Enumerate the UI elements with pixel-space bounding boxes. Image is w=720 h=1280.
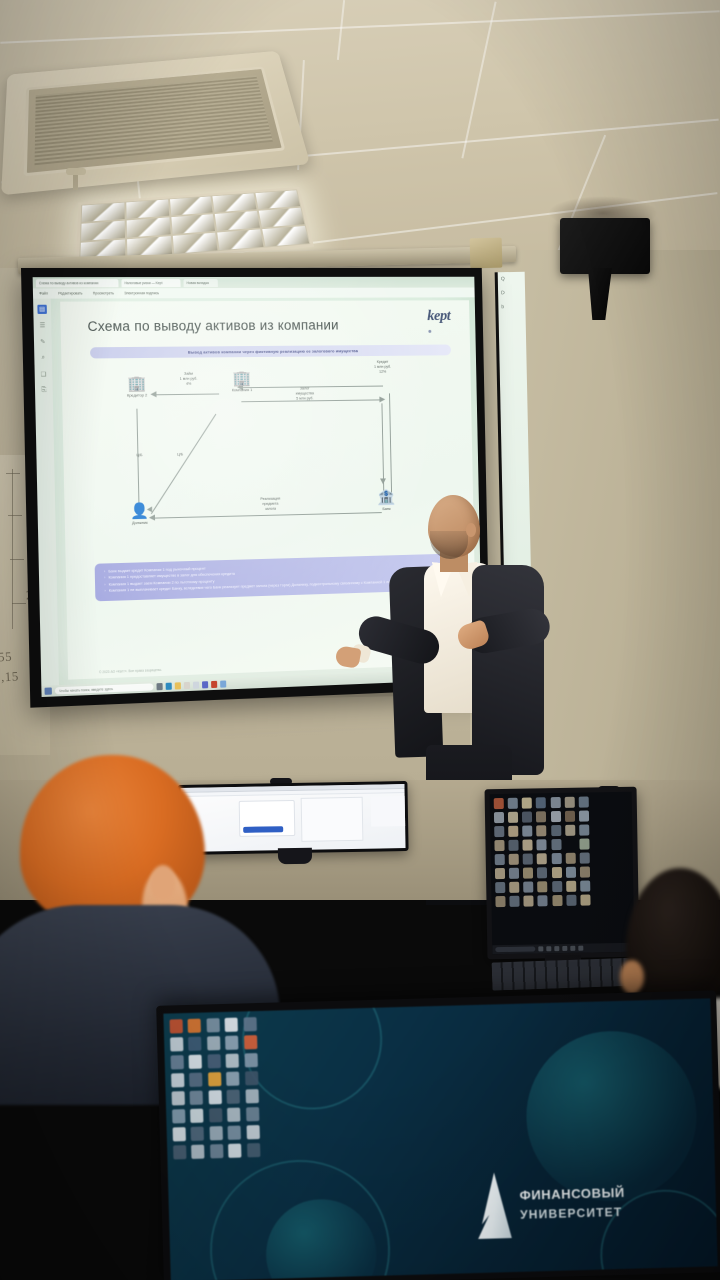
- desktop-icon[interactable]: [244, 1053, 257, 1067]
- desktop-icon[interactable]: [494, 798, 504, 809]
- slide-banner: Вывод активов компании через фиктивную р…: [90, 345, 451, 359]
- desktop-icon[interactable]: [510, 896, 520, 907]
- desktop-icon[interactable]: [228, 1126, 241, 1140]
- comment-icon[interactable]: ❑: [39, 370, 49, 379]
- edge-label-securities-1: Ц/Б: [127, 453, 152, 458]
- ceiling-ac-cassette: [1, 51, 310, 195]
- desktop-icon[interactable]: [566, 895, 576, 906]
- explorer-icon[interactable]: [175, 682, 181, 689]
- taskbar-icon[interactable]: [546, 946, 551, 951]
- desktop-icon[interactable]: [523, 840, 533, 851]
- node-label-debtor: Должник: [116, 520, 163, 525]
- bookmarks-icon[interactable]: ☰: [38, 321, 48, 330]
- presenter-jacket-right: [472, 565, 544, 775]
- start-icon[interactable]: [44, 687, 51, 694]
- desktop-icon[interactable]: [524, 895, 534, 906]
- desktop-icon[interactable]: [509, 882, 519, 893]
- edge-company1-creditor2: [156, 393, 219, 395]
- desktop-icon[interactable]: [509, 840, 519, 851]
- desktop-icon[interactable]: [580, 895, 590, 906]
- edge-bank-vertical-2: [389, 393, 392, 504]
- edge-company1-debtor: [151, 414, 216, 514]
- desktop-icon[interactable]: [522, 798, 532, 809]
- edge-icon[interactable]: [166, 683, 172, 690]
- content-panel: [301, 797, 364, 842]
- desktop-icon[interactable]: [494, 840, 504, 851]
- desktop-icon[interactable]: [536, 811, 546, 822]
- desktop-icon[interactable]: [509, 854, 519, 865]
- desktop-icon[interactable]: [208, 1072, 221, 1086]
- desktop-icon[interactable]: [226, 1054, 239, 1068]
- desktop-icon[interactable]: [566, 881, 576, 892]
- desktop-icon[interactable]: [207, 1054, 220, 1068]
- desktop-icon[interactable]: [191, 1145, 204, 1159]
- desktop-icon[interactable]: [188, 1037, 201, 1051]
- slide-footer: © 2023 АО «Кепт». Все права защищены.: [99, 668, 162, 674]
- edge-creditor2-debtor: [136, 409, 139, 510]
- desktop-icon[interactable]: [551, 867, 561, 878]
- desktop-icon[interactable]: [225, 1036, 238, 1050]
- slide-title: Схема по выводу активов из компании: [87, 317, 456, 334]
- desktop-icon[interactable]: [494, 812, 504, 823]
- desktop-icon[interactable]: [508, 798, 518, 809]
- desktop-icon[interactable]: [189, 1073, 202, 1087]
- desktop-icon[interactable]: [564, 797, 574, 808]
- edge-label-loan: Займ 1 млн руб. 4%: [162, 371, 215, 386]
- edge-label-sale: Реализация предмета залога: [239, 496, 301, 512]
- desktop-icon[interactable]: [189, 1055, 202, 1069]
- side-panel: [371, 796, 406, 827]
- desktop-icon[interactable]: [227, 1090, 240, 1104]
- company-icon: 🏢: [113, 376, 160, 393]
- desktop-icon[interactable]: [566, 867, 576, 878]
- desktop-icon[interactable]: [565, 853, 575, 864]
- desktop-icon[interactable]: [190, 1091, 203, 1105]
- desktop-icon[interactable]: [551, 853, 561, 864]
- desktop-icon[interactable]: [208, 1090, 221, 1104]
- sail-icon: [468, 1172, 512, 1239]
- desktop-icon[interactable]: [495, 854, 505, 865]
- kept-logo-dot: [428, 330, 431, 333]
- desktop-icon[interactable]: [523, 868, 533, 879]
- mail-icon[interactable]: [184, 682, 190, 689]
- desktop-icon[interactable]: [225, 1018, 238, 1032]
- desktop-icon[interactable]: [209, 1108, 222, 1122]
- note-015: 0,15: [0, 668, 19, 685]
- desktop-icon[interactable]: [536, 797, 546, 808]
- desktop-icon[interactable]: [565, 839, 575, 850]
- desktop-icon[interactable]: [495, 882, 505, 893]
- desktop-icon[interactable]: [173, 1127, 186, 1141]
- desktop-icon[interactable]: [243, 1017, 256, 1031]
- desktop-icon[interactable]: [207, 1036, 220, 1050]
- taskbar-search-input[interactable]: [495, 946, 535, 952]
- desktop-icon[interactable]: [538, 895, 548, 906]
- desktop-icon[interactable]: [245, 1071, 258, 1085]
- taskbar-icon[interactable]: [554, 946, 559, 951]
- menu-file[interactable]: Файл: [39, 291, 48, 295]
- diagram-node-creditor2: 🏢 Кредитор 2: [113, 376, 160, 398]
- desktop-icon[interactable]: [188, 1019, 201, 1033]
- search-icon[interactable]: ⌕: [38, 354, 48, 363]
- desktop-icon[interactable]: [509, 868, 519, 879]
- desktop-icon[interactable]: [191, 1127, 204, 1141]
- taskbar-icon[interactable]: [562, 946, 567, 951]
- taskbar-icon[interactable]: [570, 946, 575, 951]
- chrome-icon[interactable]: [220, 680, 226, 687]
- secondary-char-d: D: [498, 286, 525, 301]
- desktop-icon[interactable]: [171, 1055, 184, 1069]
- kept-logo: kept: [427, 308, 450, 325]
- university-name-line1: ФИНАНСОВЫЙ: [519, 1185, 625, 1203]
- arrow-pledge-to-bank: [379, 396, 385, 402]
- person-icon: 👤: [116, 503, 163, 520]
- desktop-icon[interactable]: [523, 854, 533, 865]
- university-name-line2: УНИВЕРСИТЕТ: [520, 1205, 626, 1222]
- diagram-node-company1: 🏢 Компания 1: [219, 371, 265, 393]
- desktop-icon[interactable]: [579, 853, 589, 864]
- presenter-ear: [466, 523, 476, 537]
- desktop-icon[interactable]: [227, 1108, 240, 1122]
- desktop-icon[interactable]: [245, 1089, 258, 1103]
- desktop-icon[interactable]: [579, 825, 589, 836]
- desktop-icon[interactable]: [206, 1018, 219, 1032]
- diagram-node-debtor: 👤 Должник: [116, 503, 163, 525]
- desktop-icon-grid[interactable]: [494, 797, 592, 908]
- browser-menu-bar[interactable]: Файл Редактировать Просмотреть Электронн…: [33, 288, 475, 299]
- sprinkler-head-icon: [66, 168, 86, 190]
- edge-label-credit: Кредит 1 млн руб. 12%: [357, 360, 408, 375]
- bullet-dot-icon: ›: [104, 588, 105, 595]
- desktop-icon[interactable]: [538, 881, 548, 892]
- desktop-icon[interactable]: [244, 1035, 257, 1049]
- taskbar-icon[interactable]: [538, 946, 543, 951]
- teams-icon[interactable]: [202, 681, 208, 688]
- arrow-bank-down: [380, 478, 386, 484]
- desktop-icon[interactable]: [552, 895, 562, 906]
- desktop-icon[interactable]: [495, 868, 505, 879]
- monitor-foreground-screen[interactable]: ФИНАНСОВЫЙ УНИВЕРСИТЕТ: [163, 998, 717, 1280]
- desktop-icon[interactable]: [537, 853, 547, 864]
- wall-speaker: [560, 218, 650, 274]
- desktop-icon[interactable]: [172, 1091, 185, 1105]
- desktop-icon[interactable]: [170, 1037, 183, 1051]
- desktop-icon[interactable]: [226, 1072, 239, 1086]
- desktop-icon[interactable]: [209, 1126, 222, 1140]
- desktop-icon[interactable]: [550, 811, 560, 822]
- edge-label-pledge: Залог имущества 5 млн руб.: [277, 386, 333, 401]
- desktop-icon[interactable]: [228, 1144, 241, 1158]
- desktop-icon[interactable]: [523, 882, 533, 893]
- pen-icon[interactable]: ✎: [38, 337, 48, 346]
- desktop-icon[interactable]: [246, 1107, 259, 1121]
- desktop-icon[interactable]: [580, 867, 590, 878]
- desktop-icon[interactable]: [579, 839, 589, 850]
- desktop-icon[interactable]: [579, 797, 589, 808]
- desktop-icon[interactable]: [550, 797, 560, 808]
- store-icon[interactable]: [193, 682, 199, 689]
- desktop-icon[interactable]: [537, 867, 547, 878]
- secondary-char-q: Q: [498, 272, 525, 287]
- secondary-char-b: b: [498, 300, 525, 315]
- projector-screen-bracket: [470, 238, 503, 269]
- desktop-icon[interactable]: [508, 812, 518, 823]
- edge-bank-debtor-sale: [155, 512, 382, 518]
- desktop-icon[interactable]: [565, 811, 575, 822]
- task-view-icon[interactable]: [156, 683, 162, 690]
- desktop-icon[interactable]: [170, 1019, 183, 1033]
- desktop-icon[interactable]: [565, 825, 575, 836]
- monitor-back-left-stand: [278, 848, 312, 865]
- browser-tab-1[interactable]: Схема по выводу активов из компании: [36, 279, 119, 287]
- node-label-company1: Компания 1: [219, 388, 265, 393]
- desktop-icon[interactable]: [551, 839, 561, 850]
- company-icon: 🏢: [219, 371, 265, 388]
- desktop-icon[interactable]: [190, 1109, 203, 1123]
- university-logo: ФИНАНСОВЫЙ УНИВЕРСИТЕТ: [468, 1169, 626, 1239]
- pdf-tool-sidebar[interactable]: ▤ ☰ ✎ ⌕ ❑ ⎘: [33, 299, 59, 686]
- taskbar-icon[interactable]: [578, 946, 583, 951]
- taskbar-search-input[interactable]: Чтобы начать поиск, введите здесь: [55, 683, 154, 694]
- desktop-icon[interactable]: [552, 881, 562, 892]
- edge-label-securities-2: Ц/Б: [168, 452, 192, 457]
- monitor-foreground[interactable]: ФИНАНСОВЫЙ УНИВЕРСИТЕТ: [156, 990, 720, 1280]
- menu-edit[interactable]: Редактировать: [58, 291, 82, 295]
- desktop-icon[interactable]: [537, 825, 547, 836]
- node-label-creditor2: Кредитор 2: [114, 393, 161, 398]
- desktop-icon[interactable]: [537, 839, 547, 850]
- student-ear: [620, 960, 644, 994]
- desktop-icon[interactable]: [210, 1144, 223, 1158]
- menu-view[interactable]: Просмотреть: [93, 291, 114, 295]
- lecture-hall-scene: 5 5 2 2,2 55 0,15 Q D b Схема по выводу …: [0, 0, 720, 1280]
- desktop-icon[interactable]: [580, 881, 590, 892]
- desktop-icon-grid[interactable]: [165, 1013, 265, 1164]
- desktop-icon[interactable]: [247, 1143, 260, 1157]
- desktop-icon[interactable]: [522, 812, 532, 823]
- desktop-icon[interactable]: [522, 826, 532, 837]
- desktop-icon[interactable]: [495, 896, 505, 907]
- desktop-icon[interactable]: [172, 1109, 185, 1123]
- desktop-icon[interactable]: [173, 1145, 186, 1159]
- browser-tab-2[interactable]: Налоговые риски — Kept: [121, 279, 180, 287]
- pdf-icon[interactable]: [211, 681, 217, 688]
- desktop-icon[interactable]: [246, 1125, 259, 1139]
- note-55: 55: [0, 649, 12, 666]
- thumbnails-icon[interactable]: ▤: [37, 305, 47, 314]
- desktop-icon[interactable]: [551, 825, 561, 836]
- desktop-icon[interactable]: [508, 826, 518, 837]
- desktop-icon[interactable]: [579, 811, 589, 822]
- browser-tab-3[interactable]: Новая вкладка: [183, 279, 217, 287]
- menu-esign[interactable]: Электронная подпись: [124, 291, 159, 295]
- student-ear: [150, 865, 176, 901]
- attach-icon[interactable]: ⎘: [39, 386, 49, 395]
- desktop-icon[interactable]: [171, 1073, 184, 1087]
- desktop-icon[interactable]: [494, 826, 504, 837]
